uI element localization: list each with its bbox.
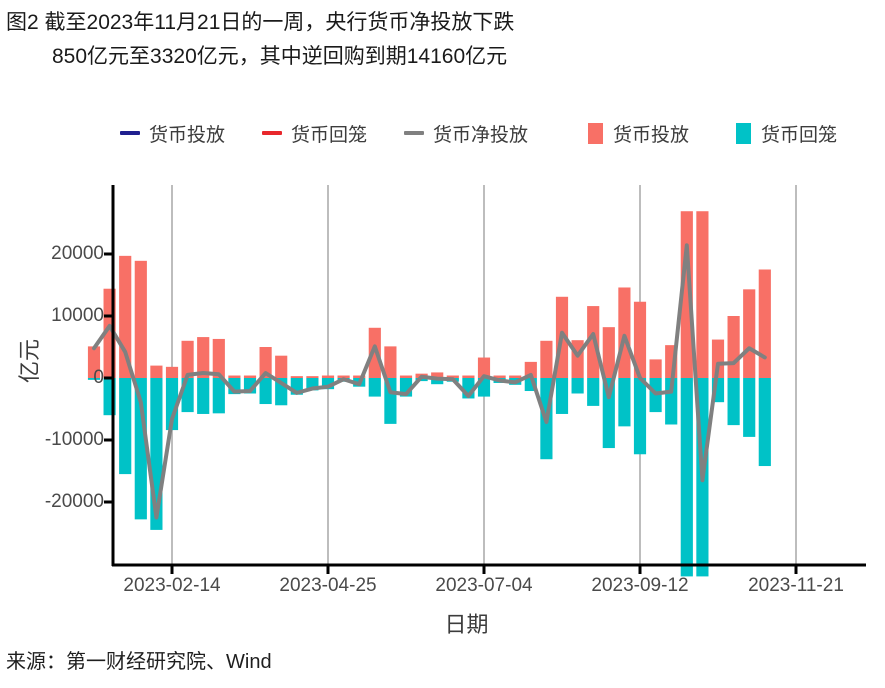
bar-positive xyxy=(400,376,412,378)
bar-negative xyxy=(213,378,225,413)
bar-positive xyxy=(759,270,771,379)
y-tick-label: -20000 xyxy=(4,491,104,513)
bar-positive xyxy=(572,340,584,378)
bar-positive xyxy=(291,376,303,378)
bar-negative xyxy=(556,378,568,414)
bar-positive xyxy=(696,211,708,378)
bar-positive xyxy=(135,261,147,378)
bar-positive xyxy=(322,376,334,378)
chart-figure: 图2 截至2023年11月21日的一周，央行货币净投放下跌 850亿元至3320… xyxy=(0,0,885,688)
bar-negative xyxy=(743,378,755,437)
source-note: 来源：第一财经研究院、Wind xyxy=(6,645,272,674)
bar-positive xyxy=(462,376,474,378)
bar-positive xyxy=(650,359,662,378)
bar-positive xyxy=(509,376,521,378)
bar-negative xyxy=(197,378,209,414)
bar-positive xyxy=(306,376,318,378)
bar-positive xyxy=(275,356,287,378)
bar-positive xyxy=(150,366,162,378)
bar-negative xyxy=(634,378,646,454)
bar-positive xyxy=(728,316,740,378)
bar-positive xyxy=(540,341,552,378)
x-tick-label: 2023-07-04 xyxy=(394,575,574,597)
bar-negative xyxy=(119,378,131,474)
bar-negative xyxy=(260,378,272,404)
x-tick-label: 2023-09-12 xyxy=(550,575,730,597)
x-tick-label: 2023-11-21 xyxy=(706,575,885,597)
x-tick-label: 2023-02-14 xyxy=(82,575,262,597)
bar-negative xyxy=(728,378,740,425)
bar-positive xyxy=(603,327,615,378)
net-injection-line xyxy=(94,245,765,517)
bar-positive xyxy=(166,367,178,378)
bar-negative xyxy=(572,378,584,394)
bar-negative xyxy=(618,378,630,426)
x-tick-label: 2023-04-25 xyxy=(238,575,418,597)
bar-negative xyxy=(759,378,771,466)
bar-positive xyxy=(228,376,240,378)
y-tick-label: -10000 xyxy=(4,429,104,451)
bar-positive xyxy=(618,287,630,378)
y-axis-label: 亿元 xyxy=(12,301,44,421)
y-tick-label: 20000 xyxy=(4,243,104,265)
x-axis-label: 日期 xyxy=(113,607,820,639)
bar-negative xyxy=(681,378,693,576)
bar-negative xyxy=(369,378,381,397)
bar-positive xyxy=(244,376,256,378)
bar-negative xyxy=(587,378,599,406)
bar-positive xyxy=(384,346,396,378)
bar-positive xyxy=(743,289,755,378)
